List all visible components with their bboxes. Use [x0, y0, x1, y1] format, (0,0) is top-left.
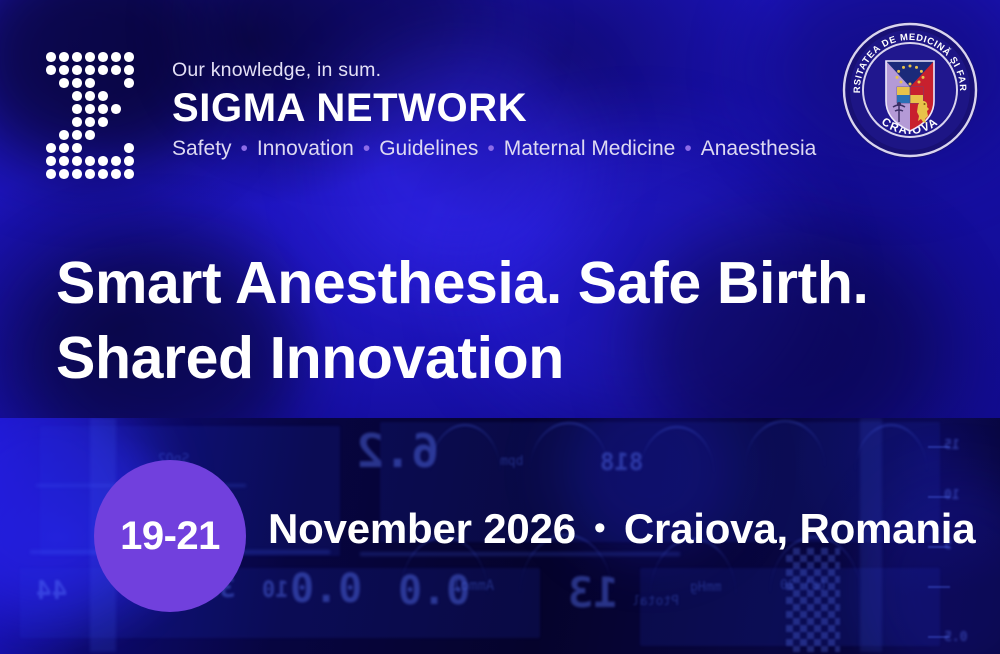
brand-tagline: Our knowledge, in sum.: [172, 60, 892, 81]
location-label: Craiova, Romania: [624, 506, 976, 552]
keyword-anaesthesia: Anaesthesia: [701, 137, 817, 161]
keyword-maternal-medicine: Maternal Medicine: [504, 137, 676, 161]
month-year-label: November 2026: [268, 506, 576, 552]
banner-header: Our knowledge, in sum. SIGMA NETWORK Saf…: [0, 0, 1000, 200]
keyword-guidelines: Guidelines: [379, 137, 478, 161]
headline-block: Smart Anesthesia. Safe Birth. Shared Inn…: [56, 246, 956, 396]
date-location-bar: 19-21 November 2026 • Craiova, Romania: [0, 460, 1000, 615]
date-location-line: November 2026 • Craiova, Romania: [268, 506, 975, 552]
conference-banner: 6.2 0.0 0.0 13 38 10 818 44 Ammol bpm mm…: [0, 0, 1000, 654]
date-bullet-icon: •: [576, 510, 624, 547]
headline-line-2: Shared Innovation: [56, 321, 956, 396]
keyword-bullet-icon: •: [675, 137, 700, 161]
keyword-bullet-icon: •: [232, 137, 257, 161]
keyword-innovation: Innovation: [257, 137, 354, 161]
brand-keywords: Safety • Innovation • Guidelines • Mater…: [172, 137, 892, 161]
brand-block: Our knowledge, in sum. SIGMA NETWORK Saf…: [172, 60, 892, 162]
university-crest-seal: UNIVERSITATEA DE MEDICINĂ ȘI FARMACIE CR…: [841, 21, 979, 159]
keyword-safety: Safety: [172, 137, 232, 161]
headline-line-1: Smart Anesthesia. Safe Birth.: [56, 246, 956, 321]
brand-title: SIGMA NETWORK: [172, 87, 892, 129]
keyword-bullet-icon: •: [354, 137, 379, 161]
sigma-dot-matrix-logo: [46, 52, 142, 176]
keyword-bullet-icon: •: [478, 137, 503, 161]
date-badge-label: 19-21: [120, 516, 220, 556]
date-badge: 19-21: [94, 460, 246, 612]
